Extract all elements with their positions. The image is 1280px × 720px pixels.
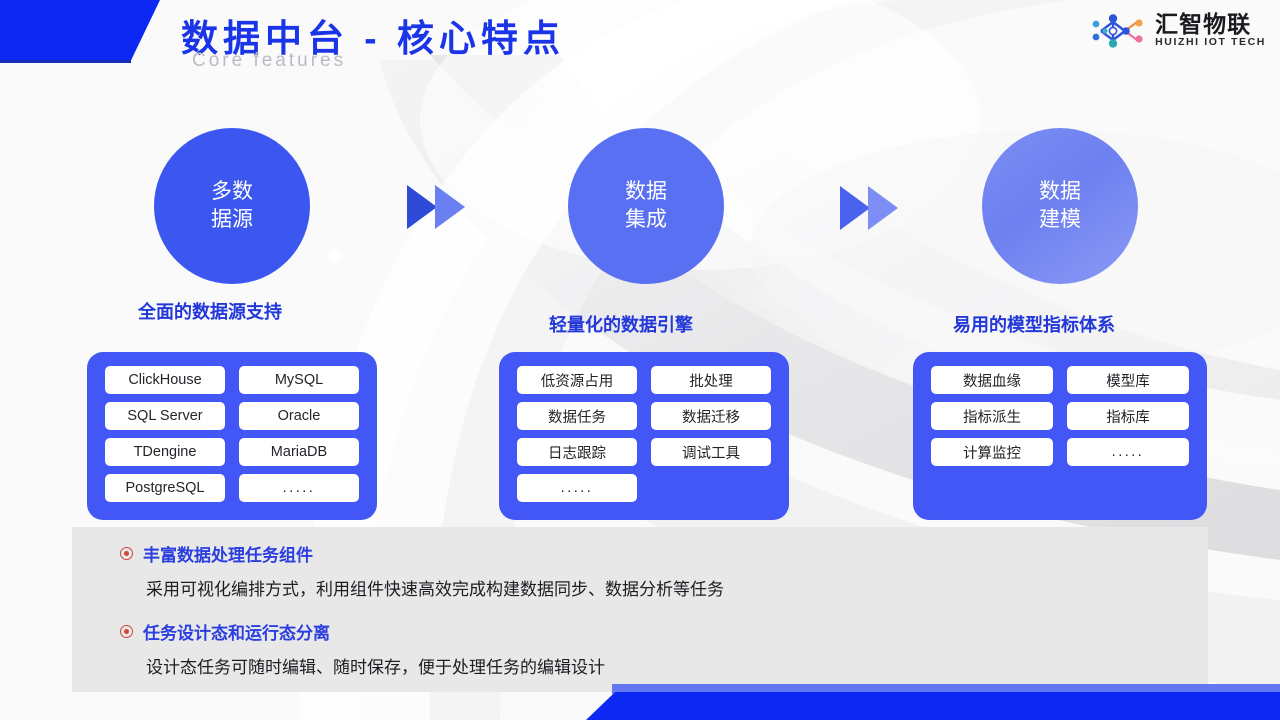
decorative-dot <box>329 250 341 262</box>
flow-circle-3-line1: 数据 <box>1039 178 1081 206</box>
chip-item[interactable]: 模型库 <box>1067 366 1189 394</box>
flow-circle-3: 数据 建模 <box>982 128 1138 284</box>
chip-item-more[interactable]: ..... <box>239 474 359 502</box>
flow-circle-2-line1: 数据 <box>625 178 667 206</box>
flow-circle-1: 多数 据源 <box>154 128 310 284</box>
footer-accent-bar <box>586 692 1280 720</box>
chip-item[interactable]: 计算监控 <box>931 438 1053 466</box>
bullet-target-icon <box>120 547 133 560</box>
double-chevron-right-icon-2 <box>838 182 908 234</box>
chip-item[interactable]: 指标派生 <box>931 402 1053 430</box>
logo-text-block: 汇智物联 HUIZHI IOT TECH <box>1155 12 1266 50</box>
brand-logo: 汇智物联 HUIZHI IOT TECH <box>1091 12 1266 50</box>
flow-circle-1-line1: 多数 <box>211 178 253 206</box>
chip-item[interactable]: 批处理 <box>651 366 771 394</box>
chip-item[interactable]: 数据任务 <box>517 402 637 430</box>
feature-description: 设计态任务可随时编辑、随时保存，便于处理任务的编辑设计 <box>146 653 1208 678</box>
feature-item: 任务设计态和运行态分离 设计态任务可随时编辑、随时保存，便于处理任务的编辑设计 <box>72 619 1208 678</box>
chip-item[interactable]: Oracle <box>239 402 359 430</box>
chip-item[interactable]: ClickHouse <box>105 366 225 394</box>
feature-description: 采用可视化编排方式，利用组件快速高效完成构建数据同步、数据分析等任务 <box>146 575 1208 600</box>
chip-item-more[interactable]: ..... <box>1067 438 1189 466</box>
chip-placeholder <box>651 474 771 502</box>
header-underline-rule <box>0 60 131 63</box>
flow-caption-3: 易用的模型指标体系 <box>953 311 1115 337</box>
feature-title: 任务设计态和运行态分离 <box>143 619 330 644</box>
chip-item[interactable]: SQL Server <box>105 402 225 430</box>
double-chevron-right-icon-1 <box>405 181 475 233</box>
chip-item[interactable]: PostgreSQL <box>105 474 225 502</box>
feature-heading: 丰富数据处理任务组件 <box>120 541 1208 566</box>
flow-circle-1-line2: 据源 <box>211 206 253 234</box>
flow-caption-2: 轻量化的数据引擎 <box>549 311 693 337</box>
feature-title: 丰富数据处理任务组件 <box>143 541 313 566</box>
flow-circle-2-line2: 集成 <box>625 206 667 234</box>
panel-data-integration: 低资源占用 批处理 数据任务 数据迁移 日志跟踪 调试工具 ..... <box>499 352 789 520</box>
chip-item[interactable]: 调试工具 <box>651 438 771 466</box>
molecule-network-icon <box>1091 12 1149 50</box>
flow-circle-3-line2: 建模 <box>1039 206 1081 234</box>
chip-item[interactable]: TDengine <box>105 438 225 466</box>
slide-canvas: 数据中台 - 核心特点 Core features 汇智物联 HUIZHI IO… <box>0 0 1280 720</box>
logo-name-en: HUIZHI IOT TECH <box>1155 36 1266 50</box>
logo-name-cn: 汇智物联 <box>1155 12 1251 36</box>
flow-caption-1: 全面的数据源支持 <box>138 298 282 324</box>
feature-item: 丰富数据处理任务组件 采用可视化编排方式，利用组件快速高效完成构建数据同步、数据… <box>72 541 1208 600</box>
flow-circle-2: 数据 集成 <box>568 128 724 284</box>
feature-list-box: 丰富数据处理任务组件 采用可视化编排方式，利用组件快速高效完成构建数据同步、数据… <box>72 527 1208 692</box>
page-subtitle: Core features <box>192 50 346 72</box>
chip-item[interactable]: MySQL <box>239 366 359 394</box>
panel-data-modeling: 数据血缘 模型库 指标派生 指标库 计算监控 ..... <box>913 352 1207 520</box>
chip-item[interactable]: 低资源占用 <box>517 366 637 394</box>
chip-item-more[interactable]: ..... <box>517 474 637 502</box>
chip-item[interactable]: 数据迁移 <box>651 402 771 430</box>
chip-item[interactable]: 指标库 <box>1067 402 1189 430</box>
chip-item[interactable]: 日志跟踪 <box>517 438 637 466</box>
bullet-target-icon <box>120 625 133 638</box>
chip-item[interactable]: 数据血缘 <box>931 366 1053 394</box>
panel-data-sources: ClickHouse MySQL SQL Server Oracle TDeng… <box>87 352 377 520</box>
chip-item[interactable]: MariaDB <box>239 438 359 466</box>
feature-heading: 任务设计态和运行态分离 <box>120 619 1208 644</box>
